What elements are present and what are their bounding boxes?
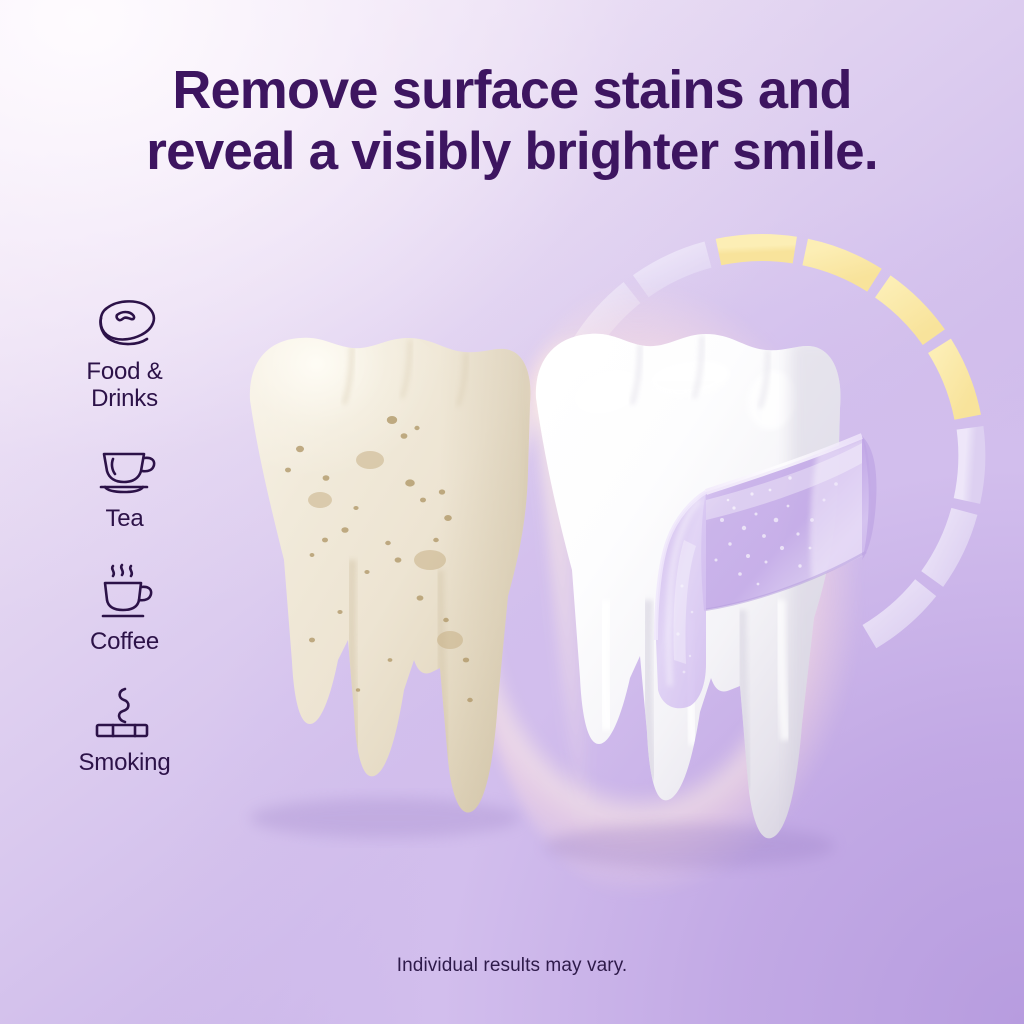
- white-tooth: [512, 312, 860, 860]
- stain-cause-label: Coffee: [52, 628, 197, 655]
- stain-cause-label-line1: Coffee: [52, 628, 197, 655]
- cigarette-icon: [52, 683, 197, 745]
- stained-tooth-shadow: [250, 798, 520, 838]
- stain-cause-label: Food & Drinks: [52, 358, 197, 413]
- stained-tooth: [230, 320, 550, 830]
- headline-line-1: Remove surface stains and: [0, 60, 1024, 122]
- coffee-mug-icon: [52, 562, 197, 624]
- teacup-icon: [52, 439, 197, 501]
- stain-causes-list: Food & Drinks Tea: [52, 292, 197, 799]
- stain-cause-label-line1: Food &: [52, 358, 197, 385]
- steak-icon: [52, 292, 197, 354]
- stain-cause-tea: Tea: [52, 439, 197, 532]
- stain-cause-label-line2: Drinks: [52, 385, 197, 412]
- promo-banner: Remove surface stains and reveal a visib…: [0, 0, 1024, 1024]
- headline-line-2: reveal a visibly brighter smile.: [0, 122, 1024, 182]
- stain-cause-smoking: Smoking: [52, 683, 197, 776]
- stain-cause-label: Tea: [52, 505, 197, 532]
- stain-cause-food-drinks: Food & Drinks: [52, 292, 197, 413]
- stain-cause-label: Smoking: [52, 749, 197, 776]
- stain-cause-label-line1: Tea: [52, 505, 197, 532]
- white-tooth-shadow: [545, 824, 835, 868]
- stain-cause-label-line1: Smoking: [52, 749, 197, 776]
- disclaimer-text: Individual results may vary.: [0, 955, 1024, 977]
- page-title: Remove surface stains and reveal a visib…: [0, 60, 1024, 182]
- stain-cause-coffee: Coffee: [52, 562, 197, 655]
